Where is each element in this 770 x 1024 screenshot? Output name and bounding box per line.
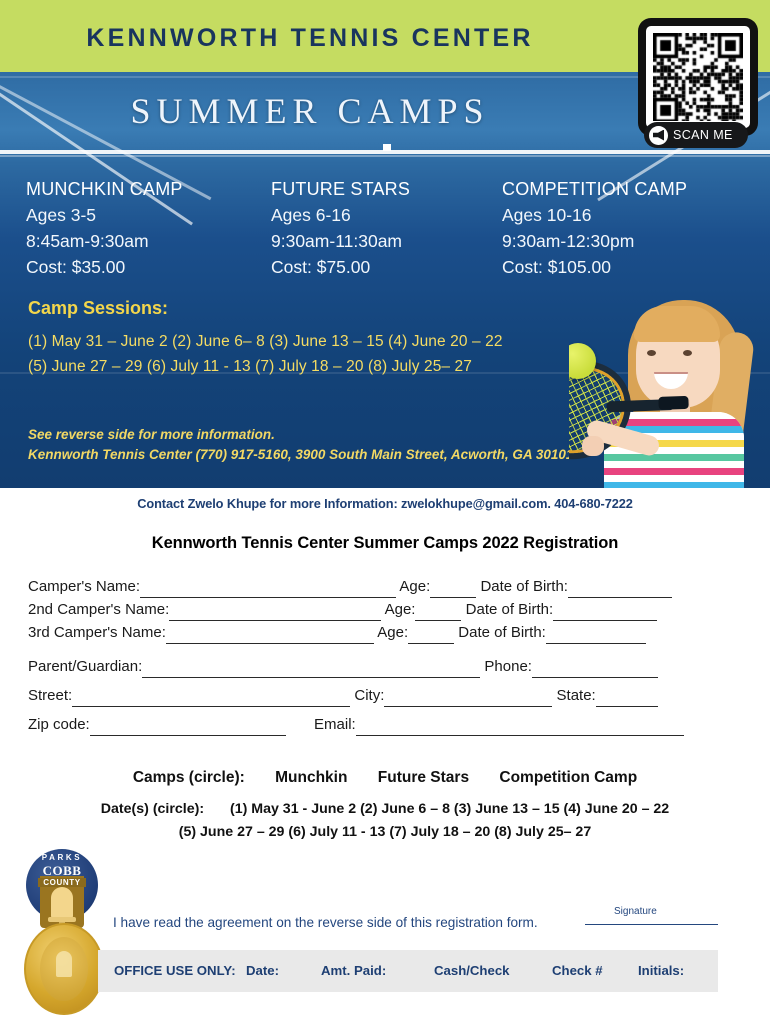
parent-input[interactable] <box>142 660 480 678</box>
city-input[interactable] <box>384 689 552 707</box>
email-label: Email: <box>314 716 356 733</box>
state-label: State: <box>557 687 596 704</box>
reverse-side-note: See reverse side for more information. <box>28 427 275 442</box>
office-cell-amt-paid: Amt. Paid: <box>321 963 386 978</box>
page-title: KENNWORTH TENNIS CENTER <box>0 24 620 53</box>
camp-cost: Cost: $35.00 <box>26 254 183 280</box>
signature-input[interactable] <box>585 924 718 925</box>
camp-sessions-heading: Camp Sessions: <box>28 298 168 319</box>
camp-sessions-line-2: (5) June 27 – 29 (6) July 11 - 13 (7) Ju… <box>28 358 472 376</box>
qr-code-image <box>646 26 750 128</box>
dob-label-2: Date of Birth: <box>466 601 554 618</box>
camp-option-munchkin[interactable]: Munchkin <box>275 769 347 786</box>
camp-ages: Ages 6-16 <box>271 202 410 228</box>
camper-3-label: 3rd Camper's Name: <box>28 624 166 641</box>
dates-options-line-1[interactable]: (1) May 31 - June 2 (2) June 6 – 8 (3) J… <box>230 801 669 817</box>
camps-circle-row: Camps (circle): Munchkin Future Stars Co… <box>0 769 770 787</box>
cobb-county-parks-logo: PARKS COBB COUNTY <box>18 845 104 1005</box>
office-cell-date: Date: <box>246 963 279 978</box>
office-cell-cash-check: Cash/Check <box>434 963 510 978</box>
logo-parks-text: PARKS <box>26 853 98 862</box>
qr-code[interactable] <box>638 18 758 136</box>
camp-option-future-stars[interactable]: Future Stars <box>378 769 469 786</box>
dob-3-input[interactable] <box>546 626 646 644</box>
camp-ages: Ages 3-5 <box>26 202 183 228</box>
age-3-input[interactable] <box>408 626 454 644</box>
eye-left <box>647 350 656 356</box>
gold-seal-bell <box>56 951 72 977</box>
camp-name: FUTURE STARS <box>271 176 410 202</box>
phone-label: Phone: <box>484 658 532 675</box>
camp-time: 8:45am-9:30am <box>26 228 183 254</box>
form-row-street: Street: City: State: <box>28 687 658 707</box>
street-input[interactable] <box>72 689 350 707</box>
agreement-text: I have read the agreement on the reverse… <box>113 915 538 930</box>
camper-3-input[interactable] <box>166 626 374 644</box>
dob-1-input[interactable] <box>568 580 672 598</box>
phone-input[interactable] <box>532 660 658 678</box>
scan-me-label: SCAN ME <box>673 128 733 142</box>
court-baseline-shadow <box>0 155 770 157</box>
girl-tennis-photo <box>569 160 764 488</box>
camper-1-label: Camper's Name: <box>28 578 140 595</box>
registration-title: Kennworth Tennis Center Summer Camps 202… <box>0 534 770 553</box>
dates-circle-row-2: (5) June 27 – 29 (6) July 11 - 13 (7) Ju… <box>0 824 770 840</box>
camp-time: 9:30am-11:30am <box>271 228 410 254</box>
camp-column-future-stars: FUTURE STARS Ages 6-16 9:30am-11:30am Co… <box>271 176 410 280</box>
dates-options-line-2[interactable]: (5) June 27 – 29 (6) July 11 - 13 (7) Ju… <box>179 824 591 840</box>
office-cell-check-num: Check # <box>552 963 603 978</box>
zip-input[interactable] <box>90 718 286 736</box>
dob-2-input[interactable] <box>553 603 657 621</box>
logo-bell-icon <box>51 887 73 919</box>
dates-circle-row-1: Date(s) (circle): (1) May 31 - June 2 (2… <box>0 801 770 817</box>
office-use-only-bar: OFFICE USE ONLY: Date: Amt. Paid: Cash/C… <box>98 950 718 992</box>
flyer-headline: SUMMER CAMPS <box>0 90 620 132</box>
address-note: Kennworth Tennis Center (770) 917-5160, … <box>28 447 573 462</box>
camper-2-input[interactable] <box>169 603 381 621</box>
scan-icon <box>649 126 668 145</box>
office-use-label: OFFICE USE ONLY: <box>114 963 236 978</box>
form-row-camper-1: Camper's Name: Age: Date of Birth: <box>28 578 672 598</box>
court-center-mark <box>383 144 391 151</box>
age-label-1: Age: <box>399 578 430 595</box>
scan-me-badge[interactable]: SCAN ME <box>644 122 748 148</box>
camp-column-munchkin: MUNCHKIN CAMP Ages 3-5 8:45am-9:30am Cos… <box>26 176 183 280</box>
logo-county-text: COUNTY <box>38 878 86 887</box>
form-row-camper-2: 2nd Camper's Name: Age: Date of Birth: <box>28 601 657 621</box>
camp-option-competition[interactable]: Competition Camp <box>499 769 637 786</box>
hair-bangs <box>634 306 720 342</box>
camp-cost: Cost: $75.00 <box>271 254 410 280</box>
office-cell-initials: Initials: <box>638 963 684 978</box>
age-label-2: Age: <box>385 601 416 618</box>
age-2-input[interactable] <box>415 603 461 621</box>
parent-label: Parent/Guardian: <box>28 658 142 675</box>
registration-form: Contact Zwelo Khupe for more Information… <box>0 488 770 1024</box>
signature-label: Signature <box>614 906 657 917</box>
age-1-input[interactable] <box>430 580 476 598</box>
camper-2-label: 2nd Camper's Name: <box>28 601 169 618</box>
street-label: Street: <box>28 687 72 704</box>
camp-name: MUNCHKIN CAMP <box>26 176 183 202</box>
state-input[interactable] <box>596 689 658 707</box>
eye-right <box>683 350 692 356</box>
camp-sessions-line-1: (1) May 31 – June 2 (2) June 6– 8 (3) Ju… <box>28 333 503 351</box>
form-row-zip: Zip code: Email: <box>28 716 684 736</box>
logo-cobb-text: COBB <box>26 863 98 879</box>
dates-circle-label: Date(s) (circle): <box>101 801 204 817</box>
flyer-poster: KENNWORTH TENNIS CENTER SUMMER CAMPS SCA… <box>0 0 770 488</box>
camps-circle-label: Camps (circle): <box>133 769 245 786</box>
age-label-3: Age: <box>377 624 408 641</box>
email-input[interactable] <box>356 718 684 736</box>
form-row-parent: Parent/Guardian: Phone: <box>28 658 658 678</box>
qr-code-canvas <box>653 33 743 121</box>
dob-label-1: Date of Birth: <box>480 578 568 595</box>
contact-info: Contact Zwelo Khupe for more Information… <box>0 496 770 511</box>
racket-grip <box>658 396 688 410</box>
zip-label: Zip code: <box>28 716 90 733</box>
dob-label-3: Date of Birth: <box>458 624 546 641</box>
city-label: City: <box>354 687 384 704</box>
gold-seal-icon <box>24 923 104 1015</box>
hand <box>582 436 604 456</box>
form-row-camper-3: 3rd Camper's Name: Age: Date of Birth: <box>28 624 646 644</box>
camper-1-input[interactable] <box>140 580 396 598</box>
